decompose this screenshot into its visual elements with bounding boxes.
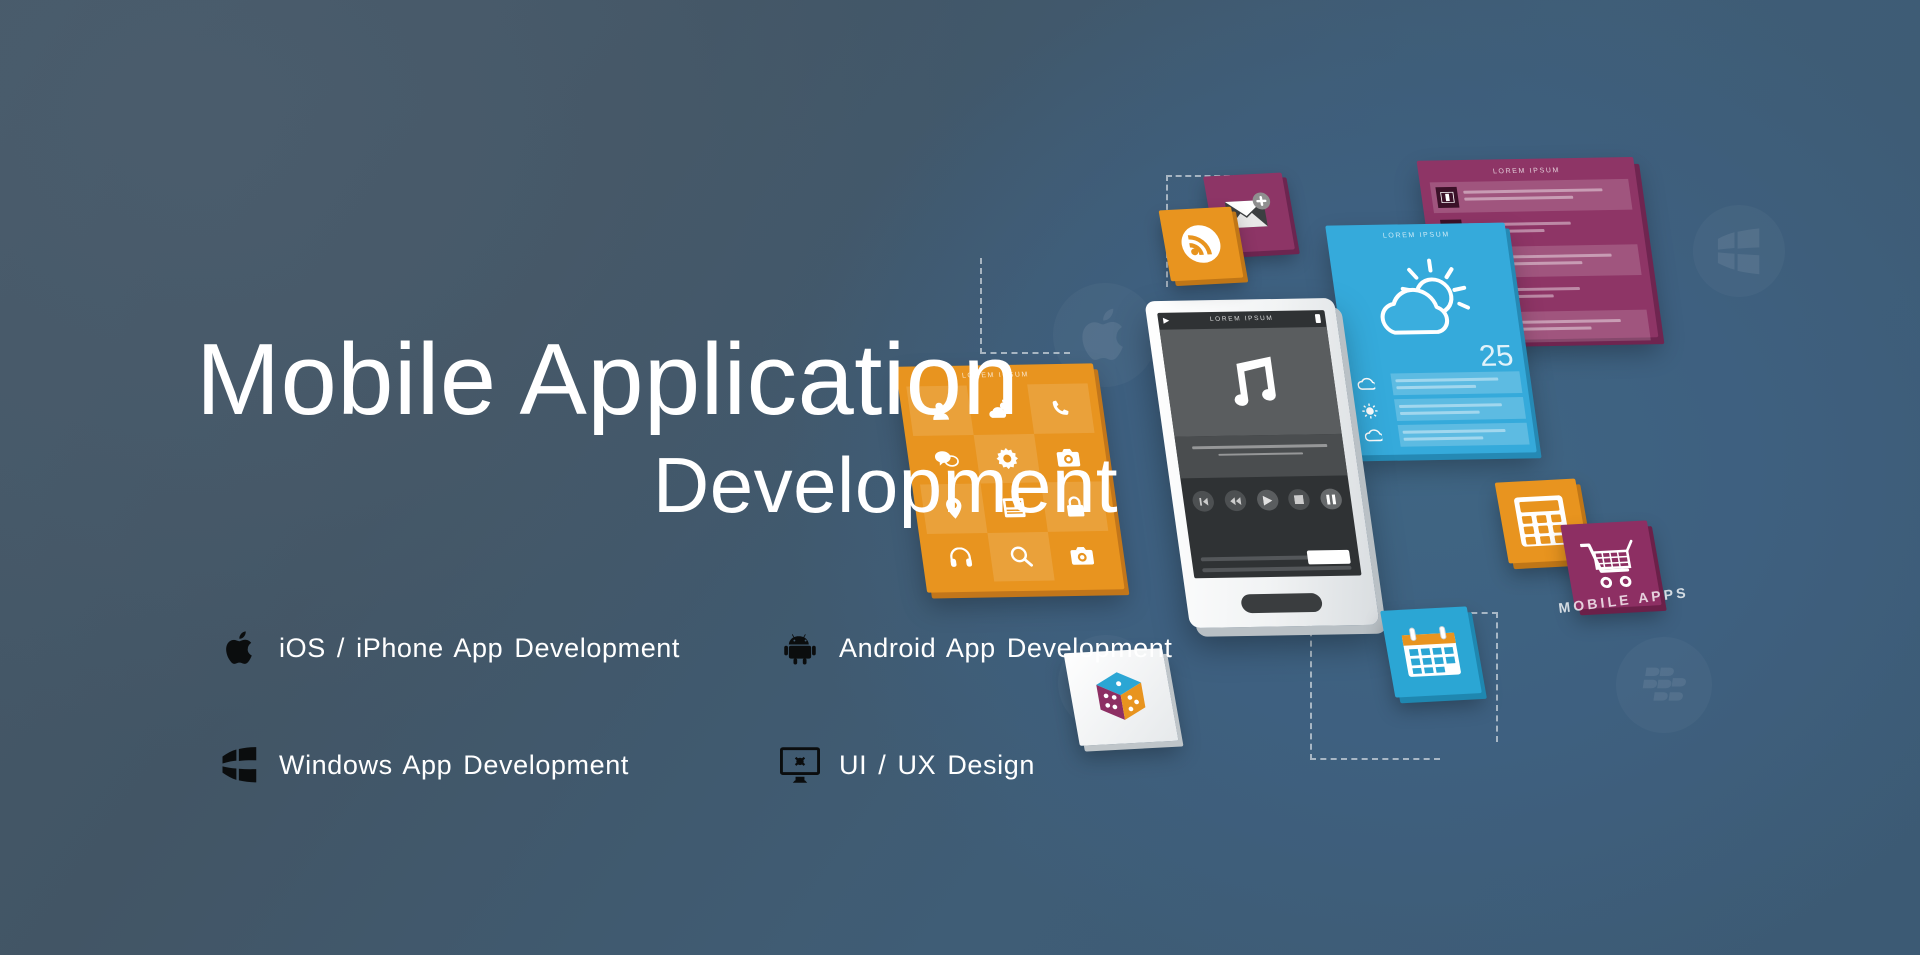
stop-icon — [1294, 495, 1304, 504]
phone-screen: LOREM IPSUM — [1157, 310, 1362, 578]
volume-slider[interactable] — [1202, 566, 1352, 573]
stop-button[interactable] — [1287, 489, 1311, 510]
headphones-icon — [948, 547, 973, 567]
android-icon — [778, 626, 822, 670]
calendar-icon — [1398, 625, 1463, 679]
photo-icon — [1069, 546, 1095, 565]
music-note-icon — [1220, 356, 1282, 408]
rss-tile[interactable] — [1159, 207, 1244, 282]
list-thumb-icon — [1435, 187, 1459, 208]
blue-weather-panel: LOREM IPSUM 25 — [1325, 223, 1537, 456]
rewind-button[interactable] — [1223, 490, 1247, 511]
headline-block: Mobile Application Development — [196, 330, 1126, 527]
phone-home-button[interactable] — [1240, 593, 1323, 613]
search-icon — [1008, 545, 1033, 567]
page-title: Mobile Application — [196, 330, 1126, 431]
rss-icon — [1177, 223, 1224, 265]
app-cell-search[interactable] — [987, 531, 1054, 581]
service-item-ios[interactable]: iOS / iPhone App Development — [218, 626, 778, 670]
service-item-android[interactable]: Android App Development — [778, 626, 1278, 670]
apple-icon — [218, 626, 262, 670]
monitor-icon — [778, 743, 822, 787]
sun-small-icon — [1360, 402, 1379, 419]
blue-panel-header: LOREM IPSUM — [1326, 230, 1506, 240]
page-subtitle: Development — [196, 445, 1126, 527]
service-label-ios: iOS / iPhone App Development — [279, 633, 680, 664]
app-cell-photo[interactable] — [1048, 530, 1115, 580]
prev-button[interactable] — [1191, 491, 1215, 512]
battery-icon — [1315, 314, 1321, 323]
windows-icon — [218, 743, 262, 787]
cloud-small-icon — [1364, 428, 1383, 445]
purple-panel-header: LOREM IPSUM — [1418, 166, 1636, 177]
calendar-tile[interactable] — [1380, 606, 1482, 697]
pause-button[interactable] — [1319, 488, 1343, 509]
service-label-uiux: UI / UX Design — [839, 750, 1035, 781]
pause-icon — [1326, 494, 1336, 504]
cart-icon — [1579, 539, 1642, 591]
album-art — [1159, 327, 1341, 437]
banner-root: LOREM IPSUM — [0, 0, 1920, 955]
progress-handle[interactable] — [1307, 550, 1351, 565]
service-label-windows: Windows App Development — [279, 750, 629, 781]
play-button[interactable] — [1255, 490, 1279, 511]
prev-icon — [1198, 497, 1209, 505]
services-list: iOS / iPhone App Development Android App… — [218, 626, 1278, 787]
service-item-uiux[interactable]: UI / UX Design — [778, 743, 1278, 787]
player-controls[interactable] — [1180, 475, 1352, 512]
cloud-small-icon — [1357, 377, 1376, 394]
app-cell-headphones[interactable] — [927, 532, 994, 582]
service-label-android: Android App Development — [839, 633, 1173, 664]
phone-status-label: LOREM IPSUM — [1158, 314, 1326, 324]
progress-slider[interactable] — [1201, 555, 1351, 562]
rewind-icon — [1229, 497, 1241, 505]
play-icon — [1262, 495, 1272, 505]
service-item-windows[interactable]: Windows App Development — [218, 743, 778, 787]
